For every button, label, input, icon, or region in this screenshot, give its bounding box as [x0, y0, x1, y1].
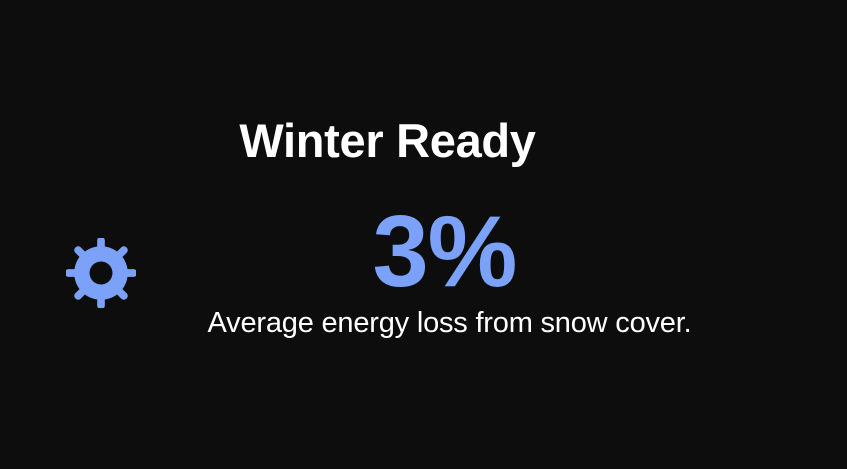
stat-content: Winter Ready 3% Average energy loss from… — [0, 0, 847, 469]
winter-ready-stat-card: Winter Ready 3% Average energy loss from… — [0, 0, 847, 469]
stat-value: 3% — [0, 199, 847, 305]
stat-caption: Average energy loss from snow cover. — [0, 303, 847, 343]
page-title: Winter Ready — [0, 113, 775, 169]
